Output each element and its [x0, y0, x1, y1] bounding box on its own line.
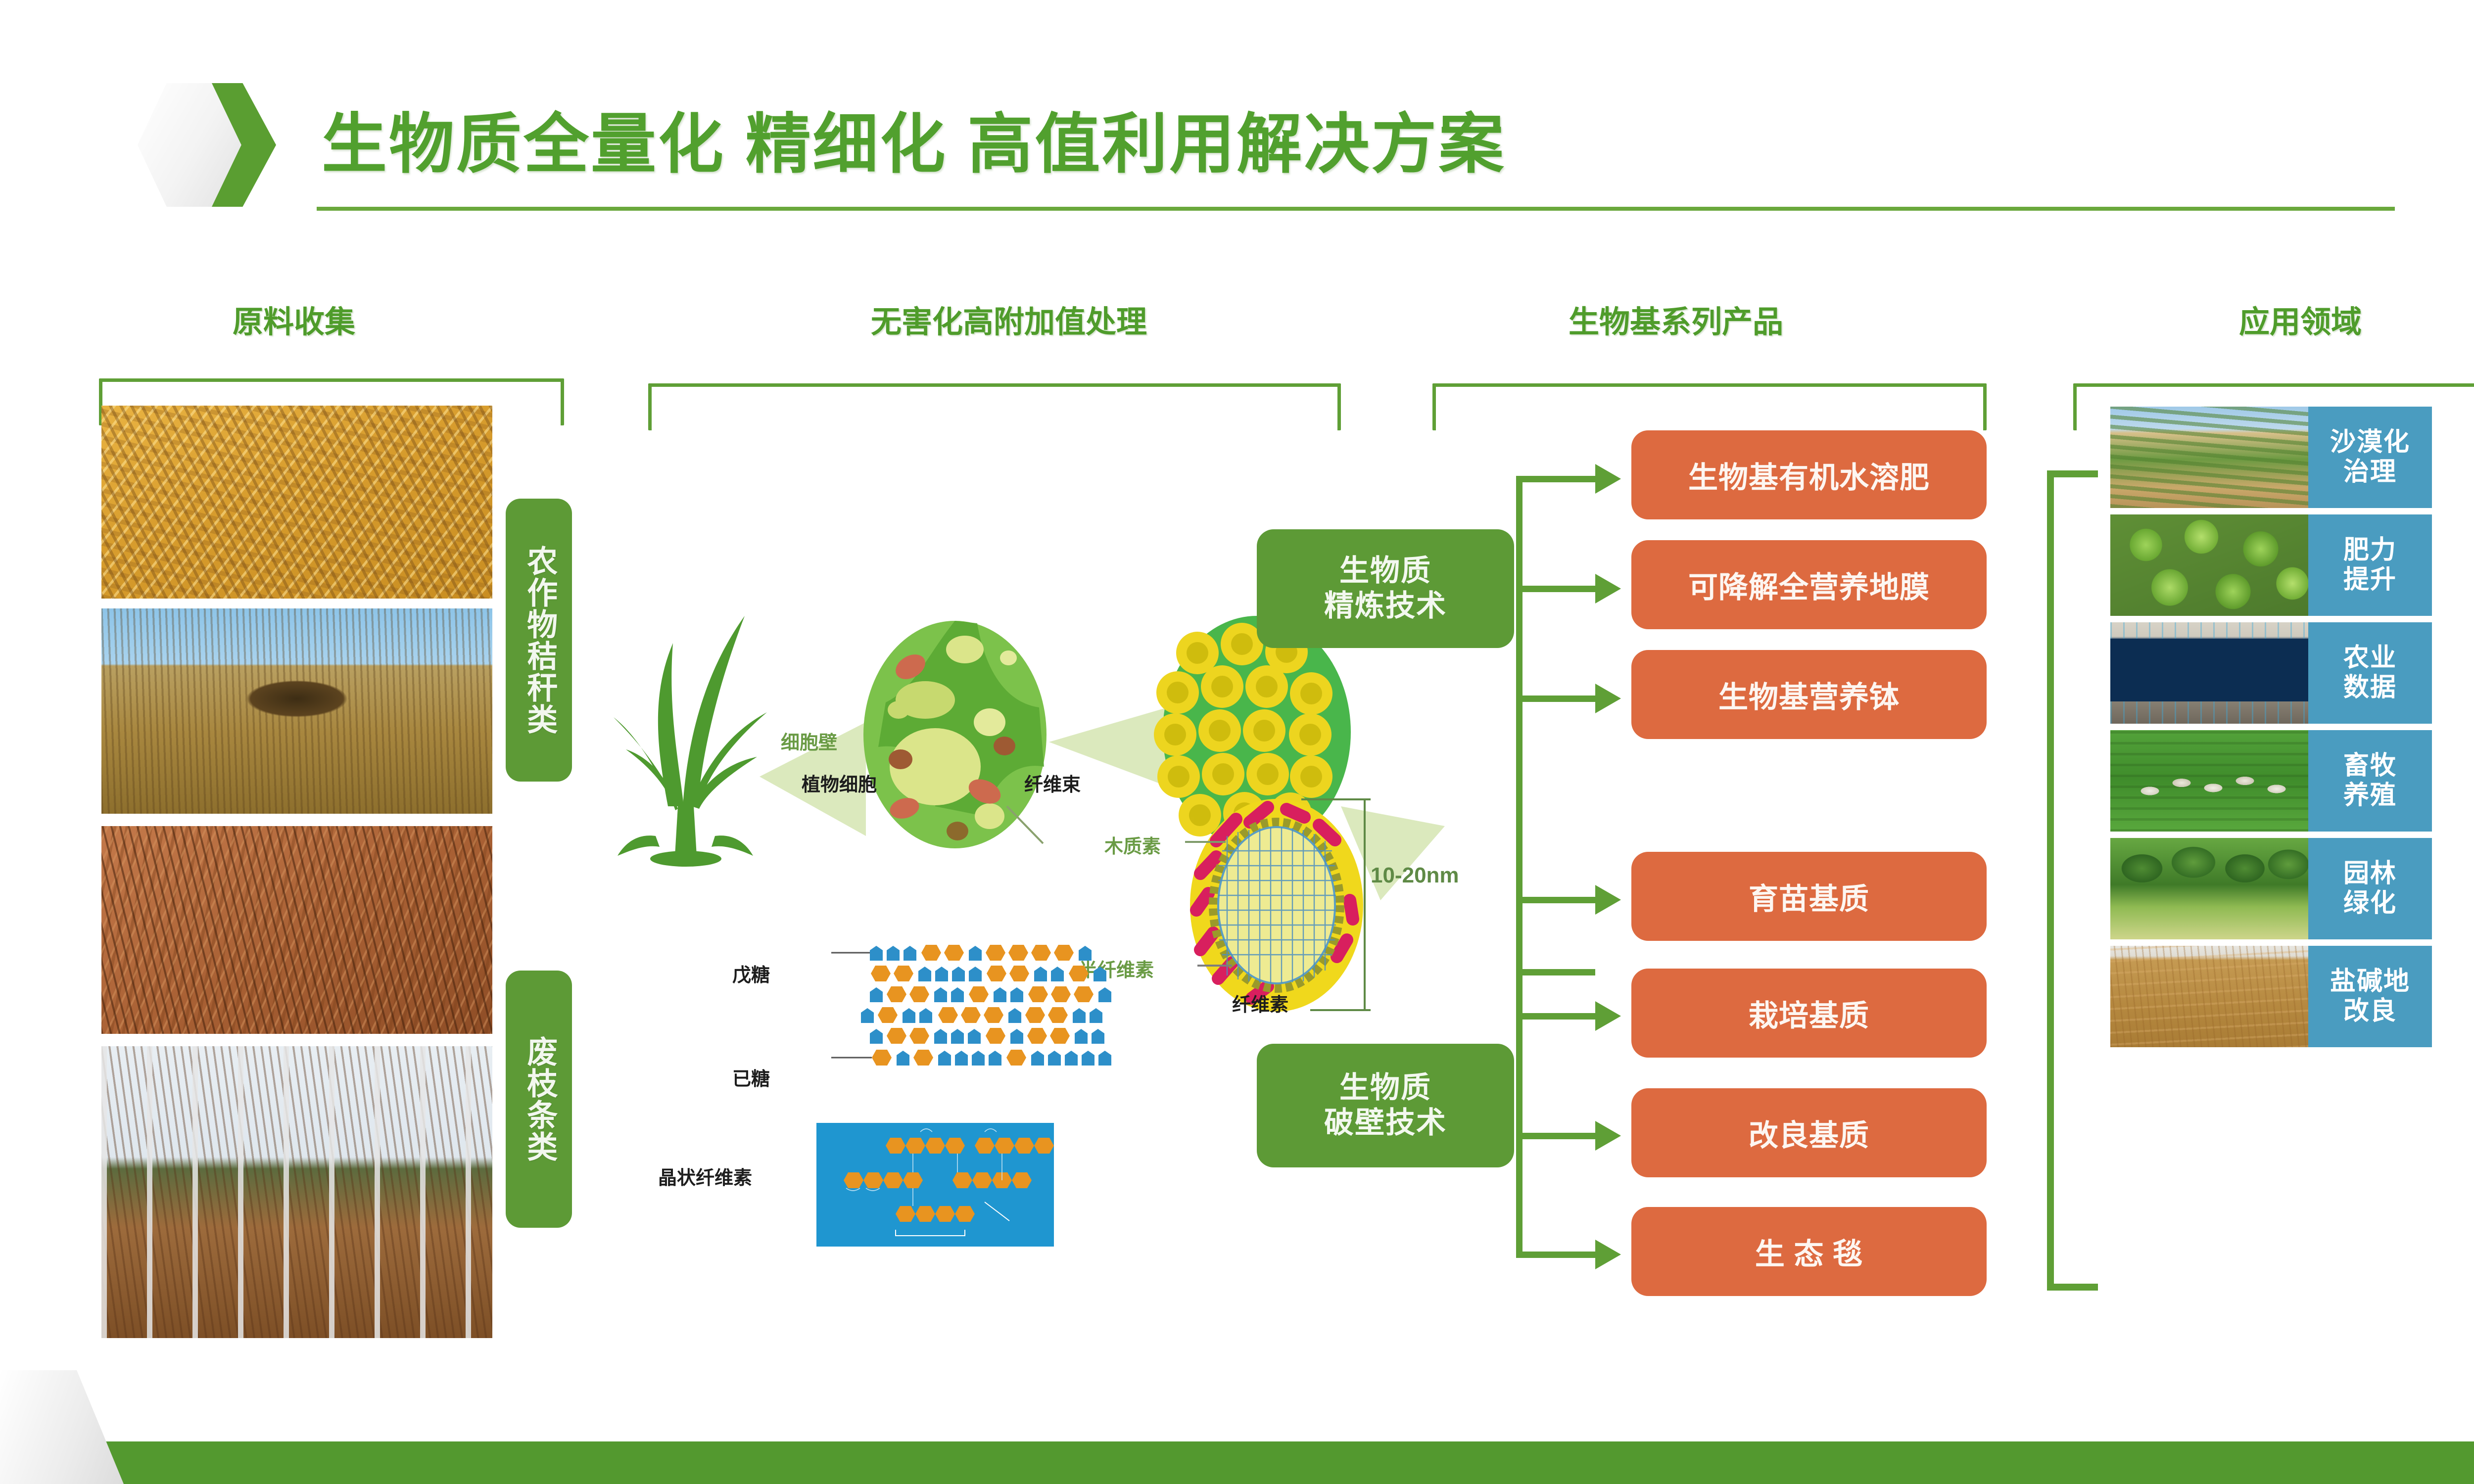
connector-wall-trunk [1516, 897, 1522, 1258]
application-row-livestock[interactable]: 畜牧 养殖 [2110, 730, 2432, 832]
application-row-fertility[interactable]: 肥力 提升 [2110, 514, 2432, 616]
application-tag-agri-data-line2: 数据 [2343, 673, 2397, 703]
connector-refining-branch-1 [1516, 476, 1595, 482]
connector-wall-branch-1 [1516, 897, 1595, 903]
hexose-label: 已糖 [732, 1064, 770, 1091]
raw-category-crop-straw[interactable]: 农作物秸秆类 [506, 499, 572, 782]
connector-wall-branch-4 [1516, 1252, 1595, 1258]
connector-wall-branch-3 [1516, 1133, 1595, 1139]
cell-wall-leader-line [1007, 806, 1043, 843]
page-title: 生物质全量化 精细化 高值利用解决方案 [322, 92, 1506, 186]
connector-refining-branch-4 [1516, 969, 1595, 975]
connector-wall-branch-2 [1516, 1013, 1595, 1020]
bracket-processing [648, 383, 1341, 430]
plant-cell-label: 植物细胞 [802, 769, 877, 796]
arrow-wall-1 [1595, 885, 1621, 915]
application-tag-desertification[interactable]: 沙漠化 治理 [2308, 407, 2432, 508]
plant-cell-illustration [863, 621, 1047, 848]
connector-refining-branch-3 [1516, 696, 1595, 702]
application-row-desertification[interactable]: 沙漠化 治理 [2110, 407, 2432, 508]
arrow-wall-4 [1595, 1240, 1621, 1269]
bottom-left-wedge [0, 1370, 124, 1484]
pentose-label: 戊糖 [732, 960, 770, 987]
lignin-label: 木质素 [1104, 831, 1161, 858]
application-bracket [2044, 470, 2103, 1291]
application-tag-desertification-line2: 治理 [2343, 458, 2397, 487]
grass-plant-icon [614, 616, 767, 867]
section-header-processing: 无害化高附加值处理 [871, 297, 1147, 341]
corn-stalk-pile-photo [101, 406, 492, 599]
cell-wall-label: 细胞壁 [781, 727, 837, 754]
raw-category-waste-branches[interactable]: 废枝条类 [506, 971, 572, 1228]
product-pill-seedling-substrate[interactable]: 育苗基质 [1631, 852, 1987, 941]
tech-pill-refining[interactable]: 生物质 精炼技术 [1257, 529, 1514, 648]
tech-pill-wall-breaking[interactable]: 生物质 破壁技术 [1257, 1044, 1514, 1167]
application-tag-agri-data[interactable]: 农业 数据 [2308, 622, 2432, 724]
crystalline-cellulose-label: 晶状纤维素 [658, 1162, 752, 1190]
fibril-scale-label: 10-20nm [1371, 863, 1459, 888]
tech-pill-refining-line2: 精炼技术 [1324, 589, 1447, 624]
tech-pill-wall-breaking-line2: 破壁技术 [1324, 1106, 1447, 1141]
arrow-refining-3 [1595, 684, 1621, 713]
dry-branches-photo [101, 826, 492, 1034]
data-control-room-photo [2110, 622, 2308, 724]
arrow-wall-2 [1595, 1001, 1621, 1031]
application-row-agri-data[interactable]: 农业 数据 [2110, 622, 2432, 724]
orchard-pruning-photo [101, 1046, 492, 1338]
cellulose-label: 纤维素 [1232, 989, 1288, 1017]
product-pill-degradable-mulch-film[interactable]: 可降解全营养地膜 [1631, 540, 1987, 629]
sheep-grazing-photo [2110, 730, 2308, 832]
saline-soil-photo [2110, 946, 2308, 1047]
tech-pill-refining-line1: 生物质 [1339, 554, 1431, 589]
raw-category-waste-branches-label: 废枝条类 [523, 1036, 555, 1162]
application-tag-saline-soil[interactable]: 盐碱地 改良 [2308, 946, 2432, 1047]
arrow-wall-3 [1595, 1121, 1621, 1151]
application-tag-fertility-line1: 肥力 [2343, 536, 2397, 565]
product-pill-cultivation-substrate[interactable]: 栽培基质 [1631, 969, 1987, 1058]
desert-greening-photo [2110, 407, 2308, 508]
product-pill-improvement-substrate[interactable]: 改良基质 [1631, 1088, 1987, 1177]
application-tag-fertility-line2: 提升 [2343, 565, 2397, 595]
application-tag-saline-soil-line1: 盐碱地 [2330, 967, 2410, 997]
application-tag-agri-data-line1: 农业 [2343, 644, 2397, 673]
product-pill-nutrition-pot[interactable]: 生物基营养钵 [1631, 650, 1987, 739]
application-tag-livestock[interactable]: 畜牧 养殖 [2308, 730, 2432, 832]
cellulose-fibril-cross-section [1153, 787, 1430, 1024]
application-tag-livestock-line2: 养殖 [2343, 781, 2397, 811]
bottom-green-bar [0, 1441, 2474, 1484]
application-row-saline-soil[interactable]: 盐碱地 改良 [2110, 946, 2432, 1047]
lignin-leader-line [1185, 841, 1226, 843]
product-pill-ecological-blanket[interactable]: 生 态 毯 [1631, 1207, 1987, 1296]
section-header-application: 应用领域 [2239, 297, 2362, 341]
application-tag-saline-soil-line2: 改良 [2343, 997, 2397, 1026]
arrow-refining-1 [1595, 464, 1621, 494]
section-header-raw: 原料收集 [233, 297, 355, 341]
connector-refining-branch-2 [1516, 586, 1595, 592]
cabbage-field-photo [2110, 514, 2308, 616]
raw-category-crop-straw-label: 农作物秸秆类 [523, 545, 555, 735]
application-tag-landscaping-line1: 园林 [2343, 859, 2397, 889]
application-row-landscaping[interactable]: 园林 绿化 [2110, 838, 2432, 939]
hexagon-logo [138, 83, 276, 207]
sugar-chain-diagram [811, 940, 1158, 1113]
arrow-refining-2 [1595, 574, 1621, 603]
crystalline-cellulose-diagram [816, 1123, 1054, 1247]
application-tag-desertification-line1: 沙漠化 [2330, 428, 2410, 458]
section-header-products: 生物基系列产品 [1569, 297, 1783, 341]
tech-pill-wall-breaking-line1: 生物质 [1339, 1070, 1431, 1106]
straw-bale-field-photo [101, 608, 492, 814]
application-tag-fertility[interactable]: 肥力 提升 [2308, 514, 2432, 616]
park-trees-photo [2110, 838, 2308, 939]
hemicellulose-leader-line [1197, 965, 1232, 967]
title-underline-rule [317, 207, 2395, 211]
product-pill-water-soluble-fertilizer[interactable]: 生物基有机水溶肥 [1631, 430, 1987, 519]
application-tag-livestock-line1: 畜牧 [2343, 751, 2397, 781]
bracket-products [1432, 383, 1987, 430]
application-tag-landscaping[interactable]: 园林 绿化 [2308, 838, 2432, 939]
fiber-bundle-label: 纤维束 [1024, 769, 1081, 796]
application-tag-landscaping-line2: 绿化 [2343, 889, 2397, 919]
